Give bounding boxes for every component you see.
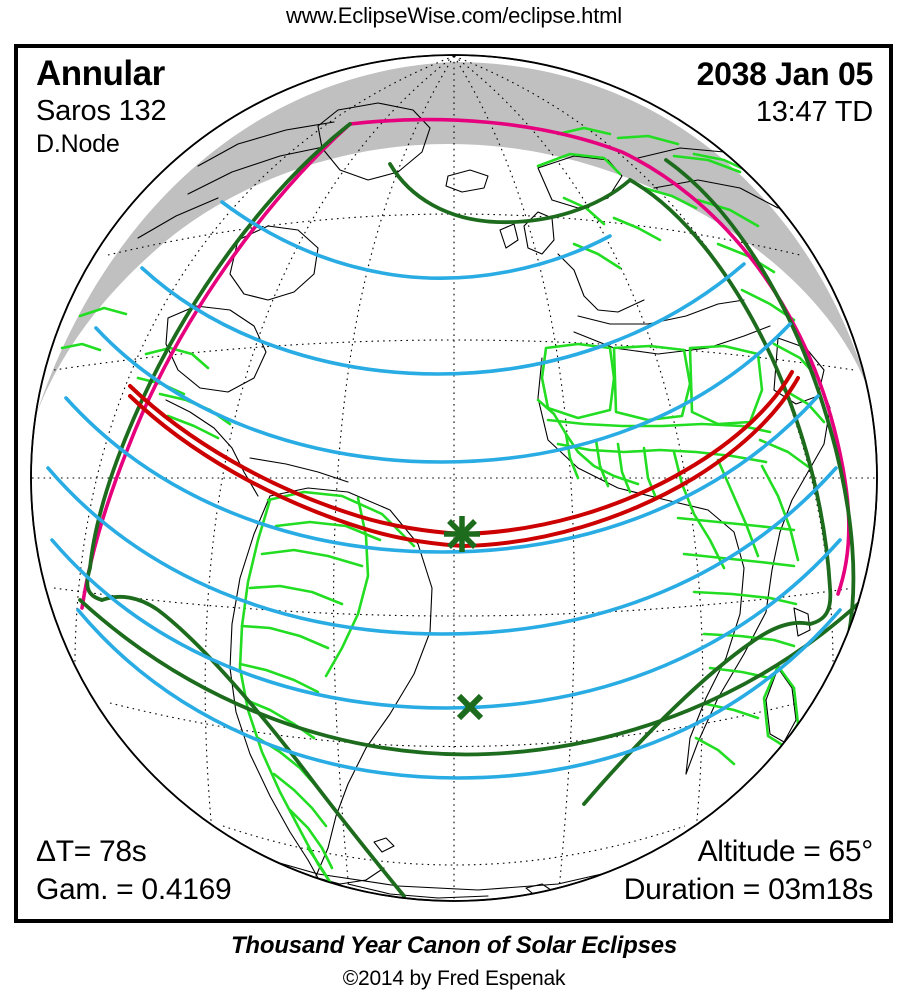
eclipse-info-bottom-right: Altitude = 65° Duration = 03m18s <box>624 833 873 909</box>
gamma-label: Gam. = 0.4169 <box>36 871 231 909</box>
eclipse-map-page: www.EclipseWise.com/eclipse.html <box>0 0 908 1004</box>
copyright-credit: ©2014 by Fred Espenak <box>0 967 908 991</box>
eclipse-map-frame: Annular Saros 132 D.Node 2038 Jan 05 13:… <box>14 44 893 923</box>
greatest-eclipse-marker-icon <box>444 516 480 552</box>
node-label: D.Node <box>36 128 166 160</box>
globe-map-graphic <box>18 48 889 919</box>
eclipse-time-label: 13:47 TD <box>697 94 873 130</box>
eclipse-info-top-right: 2038 Jan 05 13:47 TD <box>697 54 873 130</box>
eclipse-info-top-left: Annular Saros 132 D.Node <box>36 54 166 160</box>
duration-label: Duration = 03m18s <box>624 871 873 909</box>
eclipse-date-label: 2038 Jan 05 <box>697 54 873 94</box>
eclipse-type-label: Annular <box>36 54 166 94</box>
saros-label: Saros 132 <box>36 94 166 128</box>
altitude-label: Altitude = 65° <box>624 833 873 871</box>
source-url-label: www.EclipseWise.com/eclipse.html <box>0 3 908 29</box>
eclipse-info-bottom-left: ΔT= 78s Gam. = 0.4169 <box>36 833 231 909</box>
delta-t-label: ΔT= 78s <box>36 833 231 871</box>
publication-title: Thousand Year Canon of Solar Eclipses <box>0 932 908 960</box>
globe-outline <box>31 55 877 901</box>
